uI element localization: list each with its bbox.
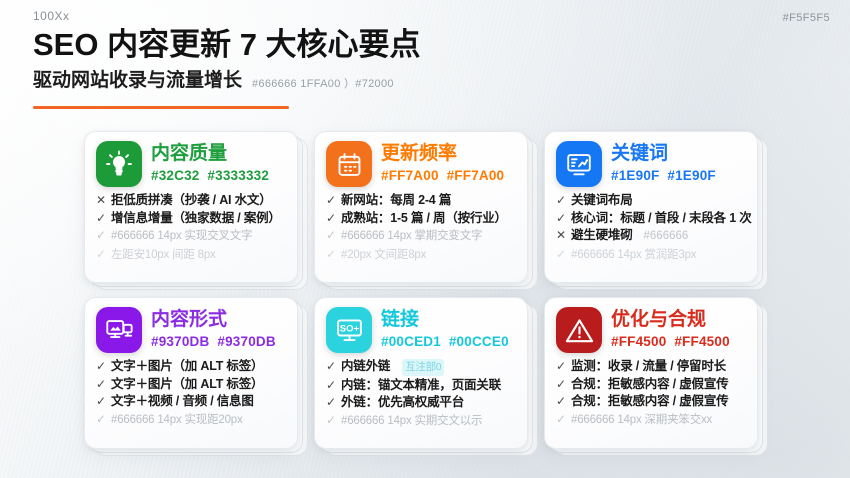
card-header-text: 内容形式#9370DB #9370DB (151, 307, 276, 351)
card-code-left: #00CED1 (381, 334, 441, 349)
card-header-text: 链接#00CED1 #00CCE0 (381, 307, 509, 351)
card-title: 内容形式 (151, 308, 276, 332)
card-header: 关键词#1E90F #1E90F (556, 141, 747, 187)
card-title: 更新频率 (381, 142, 504, 166)
bullet-item: ✓关键词布局 (556, 192, 747, 209)
card-face[interactable]: SO+ 链接#00CED1 #00CCE0✓内链外链互注部0✓内链：锚文本精准，… (314, 297, 528, 449)
bullet-text: 内链外链 (341, 358, 390, 375)
card-face[interactable]: 内容质量#32C32 #3333332✕拒低质拼凑（抄袭 / AI 水文）✓增信… (84, 131, 298, 283)
bullet-item: ✕避生硬堆砌#666666 (556, 227, 747, 245)
card-header: 内容质量#32C32 #3333332 (96, 141, 287, 187)
bullet-text: #666666 14px 实现交叉文字 (111, 228, 252, 245)
check-icon: ✓ (326, 358, 336, 375)
cross-icon: ✕ (556, 227, 566, 244)
bullet-item: ✓#666666 14px 实现距20px (96, 411, 287, 429)
bullet-item: ✓内链：锚文本精准，页面关联 (326, 377, 517, 394)
card-content-quality[interactable]: 内容质量#32C32 #3333332✕拒低质拼凑（抄袭 / AI 水文）✓增信… (84, 131, 298, 283)
bullet-text: #666666 14px 深期夹笨交xx (571, 412, 712, 429)
check-icon: ✓ (326, 412, 336, 429)
cross-icon: ✕ (96, 192, 106, 209)
bullet-item: ✓成熟站：1-5 篇 / 周（按行业） (326, 210, 517, 227)
check-icon: ✓ (326, 377, 336, 394)
check-icon: ✓ (556, 376, 566, 393)
card-code-right: #FF4500 (674, 334, 729, 349)
card-color-codes: #9370DB #9370DB (151, 333, 276, 351)
bullet-item: ✓文字＋视频 / 音频 / 信息图 (96, 393, 287, 410)
card-code-left: #32C32 (151, 168, 200, 183)
check-icon: ✓ (556, 393, 566, 410)
bullet-item: ✓监测：收录 / 流量 / 停留时长 (556, 358, 747, 375)
bullet-item: ✓#666666 14px 掌期交变文字 (326, 227, 517, 245)
card-code-left: #1E90F (611, 168, 659, 183)
check-icon: ✓ (326, 192, 336, 209)
bullet-item: ✓内链外链互注部0 (326, 358, 517, 376)
card-header-text: 更新频率#FF7A00 #FF7A00 (381, 141, 504, 185)
card-code-left: #FF4500 (611, 334, 666, 349)
card-optimization-compliance[interactable]: 优化与合规#FF4500 #FF4500✓监测：收录 / 流量 / 停留时长✓合… (544, 297, 758, 449)
card-face[interactable]: 优化与合规#FF4500 #FF4500✓监测：收录 / 流量 / 停留时长✓合… (544, 297, 758, 449)
card-color-codes: #00CED1 #00CCE0 (381, 333, 509, 351)
card-update-frequency[interactable]: 更新频率#FF7A00 #FF7A00✓新网站：每周 2-4 篇✓成熟站：1-5… (314, 131, 528, 283)
header-block: 100Xx SEO 内容更新 7 大核心要点 驱动网站收录与流量增长 #6666… (33, 8, 421, 94)
card-grid: 内容质量#32C32 #3333332✕拒低质拼凑（抄袭 / AI 水文）✓增信… (84, 131, 784, 449)
card-bullet-list: ✓新网站：每周 2-4 篇✓成熟站：1-5 篇 / 周（按行业）✓#666666… (326, 192, 517, 263)
bullet-item: ✓新网站：每周 2-4 篇 (326, 192, 517, 209)
card-header: 优化与合规#FF4500 #FF4500 (556, 307, 747, 353)
bullet-item: ✓增信息增量（独家数据 / 案例） (96, 210, 287, 227)
bullet-text: #666666 14px 实期交文以示 (341, 413, 482, 430)
check-icon: ✓ (556, 210, 566, 227)
lightbulb-icon (96, 141, 142, 187)
check-icon: ✓ (556, 358, 566, 375)
calendar-icon (326, 141, 372, 187)
check-icon: ✓ (326, 246, 336, 263)
bullet-item: ✕拒低质拼凑（抄袭 / AI 水文） (96, 192, 287, 209)
card-header: SO+ 链接#00CED1 #00CCE0 (326, 307, 517, 353)
check-icon: ✓ (96, 358, 106, 375)
bullet-item: ✓合规：拒敏感内容 / 虚假宣传 (556, 376, 747, 393)
card-code-left: #FF7A00 (381, 168, 439, 183)
image-monitor-icon (96, 307, 142, 353)
check-icon: ✓ (556, 411, 566, 428)
page-title: SEO 内容更新 7 大核心要点 (33, 25, 421, 65)
subtitle-color-note: #666666 1FFA00 ）#72000 (252, 76, 394, 94)
bullet-text: 外链：优先高权威平台 (341, 394, 464, 411)
infographic-canvas: #F5F5F5 100Xx SEO 内容更新 7 大核心要点 驱动网站收录与流量… (0, 0, 850, 478)
bullet-item: ✓核心词：标题 / 首段 / 末段各 1 次 (556, 210, 747, 227)
svg-text:SO+: SO+ (339, 323, 359, 334)
check-icon: ✓ (556, 246, 566, 263)
bullet-item: ✓文字＋图片（加 ALT 标签） (96, 358, 287, 375)
card-code-right: #9370DB (217, 334, 275, 349)
check-icon: ✓ (96, 411, 106, 428)
header-kicker: 100Xx (33, 8, 421, 24)
bullet-text: 合规：拒敏感内容 / 虚假宣传 (571, 376, 728, 393)
bullet-text: 新网站：每周 2-4 篇 (341, 192, 451, 209)
card-bullet-list: ✓文字＋图片（加 ALT 标签）✓文字＋图片（加 ALT 标签）✓文字＋视频 /… (96, 358, 287, 428)
bullet-text: 文字＋图片（加 ALT 标签） (111, 358, 263, 375)
bullet-text: 核心词：标题 / 首段 / 末段各 1 次 (571, 210, 752, 227)
so-plus-monitor-icon: SO+ (326, 307, 372, 353)
card-title: 关键词 (611, 142, 716, 166)
bullet-badge: 互注部0 (402, 359, 444, 376)
card-keywords[interactable]: 关键词#1E90F #1E90F✓关键词布局✓核心词：标题 / 首段 / 末段各… (544, 131, 758, 283)
bullet-item: ✓#666666 14px 深期夹笨交xx (556, 411, 747, 429)
check-icon: ✓ (96, 210, 106, 227)
card-header-text: 优化与合规#FF4500 #FF4500 (611, 307, 730, 351)
bullet-text: #666666 14px 赏润距3px (571, 247, 696, 264)
bullet-item: ✓#666666 14px 实期交文以示 (326, 412, 517, 430)
card-color-codes: #FF7A00 #FF7A00 (381, 167, 504, 185)
subtitle-row: 驱动网站收录与流量增长 #666666 1FFA00 ）#72000 (33, 68, 421, 94)
card-content-format[interactable]: 内容形式#9370DB #9370DB✓文字＋图片（加 ALT 标签）✓文字＋图… (84, 297, 298, 449)
bullet-item: ✓合规：拒敏感内容 / 虚假宣传 (556, 393, 747, 410)
corner-color-note: #F5F5F5 (783, 12, 830, 24)
card-color-codes: #FF4500 #FF4500 (611, 333, 730, 351)
card-header: 更新频率#FF7A00 #FF7A00 (326, 141, 517, 187)
card-color-codes: #32C32 #3333332 (151, 167, 269, 185)
card-header-text: 内容质量#32C32 #3333332 (151, 141, 269, 185)
check-icon: ✓ (96, 227, 106, 244)
card-title: 内容质量 (151, 142, 269, 166)
bullet-item: ✓#666666 14px 赏润距3px (556, 246, 747, 264)
warning-triangle-icon (556, 307, 602, 353)
bullet-text: 内链：锚文本精准，页面关联 (341, 377, 501, 394)
card-code-right: #00CCE0 (449, 334, 509, 349)
check-icon: ✓ (326, 210, 336, 227)
card-header: 内容形式#9370DB #9370DB (96, 307, 287, 353)
bullet-text: 左距安10px 间距 8px (111, 247, 216, 264)
bullet-item: ✓外链：优先高权威平台 (326, 394, 517, 411)
bullet-text: #666666 14px 实现距20px (111, 412, 243, 429)
card-title: 链接 (381, 308, 509, 332)
bullet-text: 拒低质拼凑（抄袭 / AI 水文） (111, 192, 272, 209)
check-icon: ✓ (96, 393, 106, 410)
check-icon: ✓ (326, 227, 336, 244)
card-code-right: #FF7A00 (447, 168, 505, 183)
card-code-right: #1E90F (667, 168, 715, 183)
bullet-text: 文字＋视频 / 音频 / 信息图 (111, 393, 254, 410)
card-links[interactable]: SO+ 链接#00CED1 #00CCE0✓内链外链互注部0✓内链：锚文本精准，… (314, 297, 528, 449)
card-face[interactable]: 更新频率#FF7A00 #FF7A00✓新网站：每周 2-4 篇✓成熟站：1-5… (314, 131, 528, 283)
card-code-left: #9370DB (151, 334, 209, 349)
check-icon: ✓ (96, 376, 106, 393)
bullet-text: 合规：拒敏感内容 / 虚假宣传 (571, 393, 728, 410)
card-bullet-list: ✓内链外链互注部0✓内链：锚文本精准，页面关联✓外链：优先高权威平台✓#6666… (326, 358, 517, 429)
bullet-item: ✓#20px 文间距8px (326, 246, 517, 264)
bullet-item: ✓#666666 14px 实现交叉文字 (96, 227, 287, 245)
card-face[interactable]: 内容形式#9370DB #9370DB✓文字＋图片（加 ALT 标签）✓文字＋图… (84, 297, 298, 449)
bullet-text: 监测：收录 / 流量 / 停留时长 (571, 358, 726, 375)
card-header-text: 关键词#1E90F #1E90F (611, 141, 716, 185)
bullet-text: 避生硬堆砌 (571, 227, 633, 244)
bullet-text: 成熟站：1-5 篇 / 周（按行业） (341, 210, 507, 227)
bullet-text: #20px 文间距8px (341, 247, 426, 264)
card-code-right: #3333332 (207, 168, 269, 183)
bullet-text: 文字＋图片（加 ALT 标签） (111, 376, 263, 393)
card-bullet-list: ✓监测：收录 / 流量 / 停留时长✓合规：拒敏感内容 / 虚假宣传✓合规：拒敏… (556, 358, 747, 428)
keyword-monitor-icon (556, 141, 602, 187)
check-icon: ✓ (556, 192, 566, 209)
bullet-text: 增信息增量（独家数据 / 案例） (111, 210, 281, 227)
bullet-item: ✓左距安10px 间距 8px (96, 246, 287, 264)
card-bullet-list: ✓关键词布局✓核心词：标题 / 首段 / 末段各 1 次✕避生硬堆砌#66666… (556, 192, 747, 263)
card-face[interactable]: 关键词#1E90F #1E90F✓关键词布局✓核心词：标题 / 首段 / 末段各… (544, 131, 758, 283)
bullet-text: 关键词布局 (571, 192, 633, 209)
check-icon: ✓ (96, 246, 106, 263)
card-bullet-list: ✕拒低质拼凑（抄袭 / AI 水文）✓增信息增量（独家数据 / 案例）✓#666… (96, 192, 287, 263)
check-icon: ✓ (326, 394, 336, 411)
card-color-codes: #1E90F #1E90F (611, 167, 716, 185)
bullet-dim-note: #666666 (644, 228, 689, 245)
bullet-item: ✓文字＋图片（加 ALT 标签） (96, 376, 287, 393)
header-underline-rule (33, 106, 289, 109)
bullet-text: #666666 14px 掌期交变文字 (341, 228, 482, 245)
page-subtitle: 驱动网站收录与流量增长 (33, 68, 242, 94)
card-title: 优化与合规 (611, 308, 730, 332)
